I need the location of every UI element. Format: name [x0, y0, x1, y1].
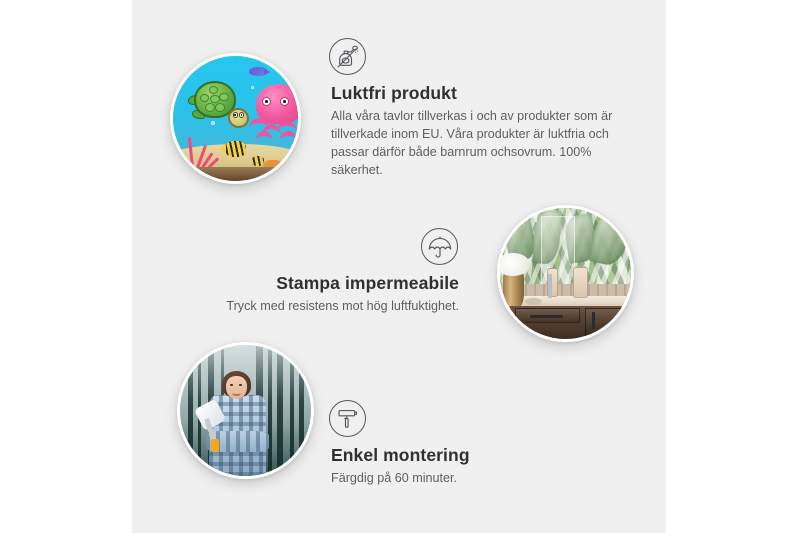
- wallpaper-leaf: [589, 205, 634, 268]
- octopus-eye: [262, 97, 271, 106]
- feature-body-waterproof: Tryck med resistens mot hög luftfuktighe…: [180, 298, 459, 316]
- octopus-eye: [280, 97, 289, 106]
- medallion-image-painter: [177, 342, 314, 479]
- icon-wrap: [331, 400, 591, 437]
- woman-smile: [232, 390, 241, 396]
- rolled-towel: [573, 267, 587, 298]
- screenshot-stage: Luktfri produkt Alla våra tavlor tillver…: [0, 0, 800, 533]
- drawer-handle: [530, 315, 564, 318]
- feature-block-mounting: Enkel montering Färgdig på 60 minuter.: [331, 400, 591, 488]
- turtle-scute: [215, 103, 225, 112]
- icon-wrap: [331, 38, 627, 75]
- tree-trunk: [277, 342, 283, 476]
- woman-face: [226, 376, 247, 398]
- feature-body-mounting: Färgdig på 60 minuter.: [331, 470, 591, 488]
- octopus-tentacle: [280, 131, 297, 148]
- sea-floor-band: [170, 167, 301, 181]
- paint-roller-grip: [211, 439, 219, 452]
- feature-block-waterproof: Stampa impermeabile Tryck med resistens …: [180, 228, 459, 316]
- paint-roller-icon: [329, 400, 366, 437]
- underwater-artwork: [173, 56, 298, 181]
- fish-purple-tail: [264, 69, 270, 75]
- fish-yellow-tail: [219, 145, 226, 153]
- no-odour-spray-bottle-icon: [329, 38, 366, 75]
- feature-title-waterproof: Stampa impermeabile: [180, 273, 459, 295]
- turtle-eye: [233, 112, 238, 117]
- sea-turtle: [191, 81, 246, 129]
- tree-trunk: [188, 342, 193, 476]
- umbrella-icon: [421, 228, 458, 265]
- medallion-image-bathroom: [497, 205, 634, 342]
- wooden-vanity: [510, 306, 631, 339]
- vanity-door: [585, 308, 626, 337]
- tree-trunk: [290, 342, 294, 476]
- tree-trunk: [299, 342, 304, 476]
- feature-body-odourless: Alla våra tavlor tillverkas i och av pro…: [331, 108, 627, 180]
- woman-eye: [239, 384, 242, 386]
- painter-artwork: [180, 345, 311, 476]
- turtle-scute: [205, 103, 215, 112]
- turtle-scute: [210, 95, 220, 104]
- door-handle: [592, 312, 595, 329]
- feature-title-odourless: Luktfri produkt: [331, 83, 627, 105]
- turtle-eye: [239, 112, 244, 117]
- bathroom-artwork: [500, 208, 631, 339]
- soap-dish: [525, 298, 542, 305]
- turtle-head: [228, 108, 249, 128]
- turtle-scute: [209, 86, 219, 95]
- white-flowers: [497, 253, 530, 277]
- fish-yellow-striped: [224, 141, 245, 157]
- turtle-scute: [219, 93, 229, 102]
- faucet: [548, 274, 551, 299]
- medallion-image-underwater: [170, 53, 301, 184]
- icon-wrap: [180, 228, 459, 265]
- turtle-scute: [200, 94, 210, 103]
- feature-block-odourless: Luktfri produkt Alla våra tavlor tillver…: [331, 38, 627, 179]
- feature-title-mounting: Enkel montering: [331, 445, 591, 467]
- woman-eye: [230, 384, 233, 386]
- tree-trunk: [268, 342, 272, 476]
- bathroom-mirror: [541, 216, 575, 287]
